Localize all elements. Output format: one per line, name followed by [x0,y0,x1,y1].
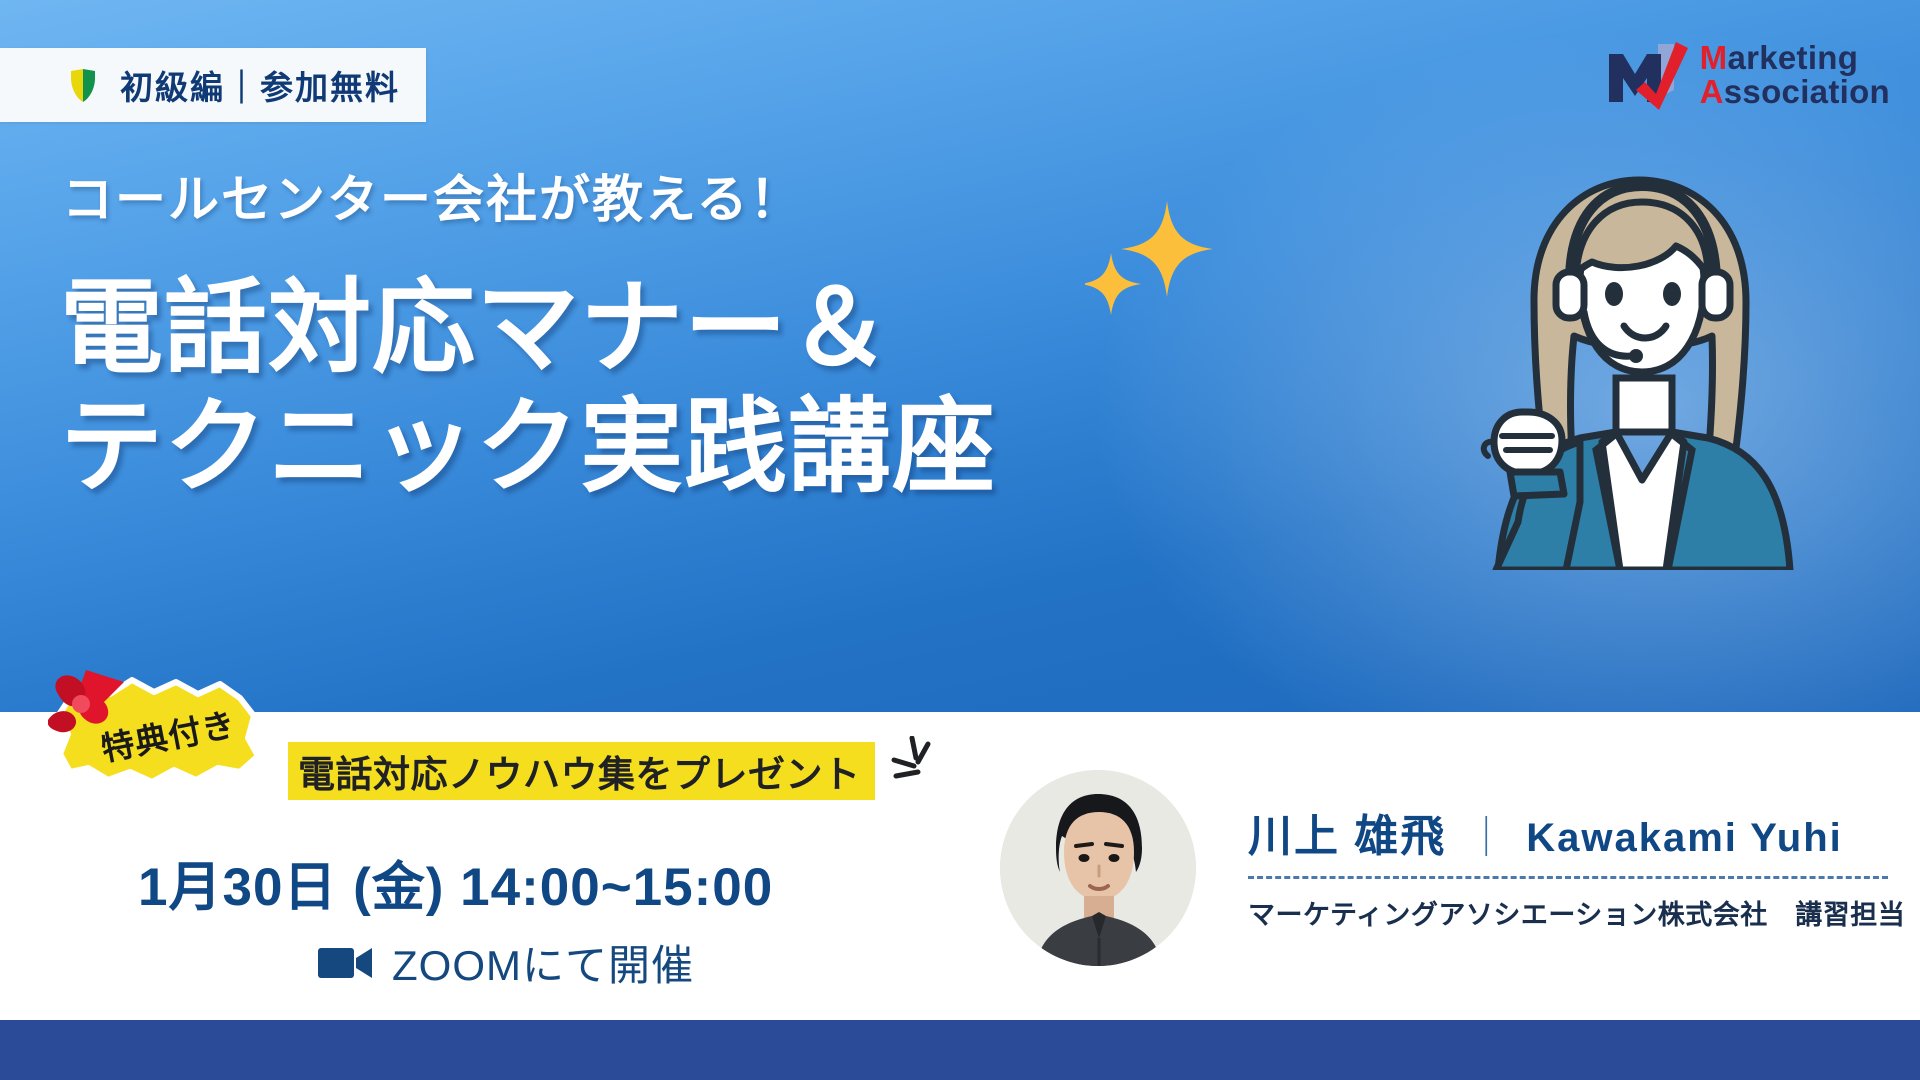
speaker-name-jp: 川上 雄飛 [1248,800,1446,864]
speaker-info: 川上 雄飛 ｜ Kawakami Yuhi マーケティングアソシエーション株式会… [1248,800,1888,932]
event-datetime: 1月30日 (金) 14:00~15:00 [138,845,773,921]
speaker-divider [1248,876,1888,879]
logo-line-association: Association [1700,75,1890,109]
speaker-name: 川上 雄飛 ｜ Kawakami Yuhi [1248,800,1888,864]
level-badge: 初級編｜参加無料 [0,48,426,122]
speaker-name-en: Kawakami Yuhi [1526,816,1843,861]
beginner-leaf-icon [68,66,98,104]
hero-title: 電話対応マナー＆ テクニック実践講座 [60,268,996,507]
hero-subtitle: コールセンター会社が教える！ [62,158,802,232]
sparkle-icon [1085,195,1225,325]
webinar-banner: 初級編｜参加無料 Marketing Association コールセンター会社… [0,0,1920,1080]
speaker-name-separator: ｜ [1466,805,1506,863]
sparkle-accent-icon [888,736,942,784]
logo-line-marketing: Marketing [1700,41,1890,75]
event-platform-label: ZOOMにて開催 [392,932,694,993]
speaker-role: マーケティングアソシエーション株式会社 講習担当 [1248,893,1888,932]
hero-title-line-1: 電話対応マナー＆ [60,268,996,387]
hero-title-line-2: テクニック実践講座 [60,387,996,506]
bottom-accent-bar [0,1020,1920,1080]
bonus-highlight-label: 電話対応ノウハウ集をプレゼント [298,744,861,798]
bonus-badge: 特典付き [48,668,278,788]
bonus-highlight-bar: 電話対応ノウハウ集をプレゼント [288,742,875,800]
brand-logo-wordmark: Marketing Association [1700,41,1890,108]
brand-logo: Marketing Association [1606,38,1890,112]
woman-with-headset-illustration [1384,150,1864,570]
ma-monogram-icon [1606,38,1688,112]
video-camera-icon [318,946,372,980]
event-platform: ZOOMにて開催 [318,932,694,993]
level-badge-label: 初級編｜参加無料 [120,61,400,109]
speaker-headshot [1000,770,1196,966]
